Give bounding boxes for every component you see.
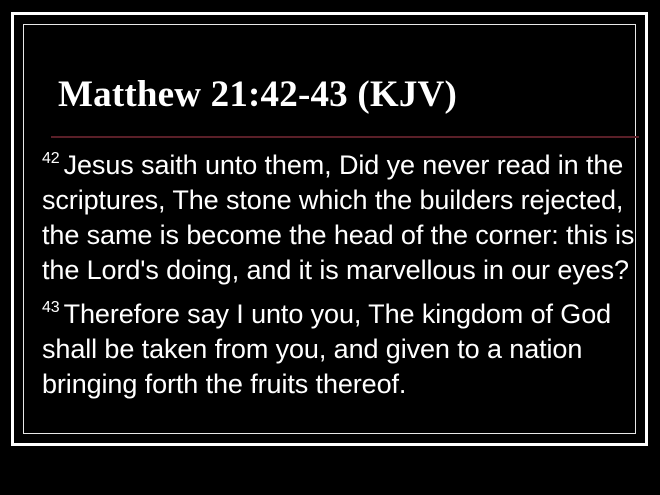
title-divider: [51, 136, 639, 138]
slide-outer-border: Matthew 21:42-43 (KJV) 42Jesus saith unt…: [11, 12, 648, 446]
slide-content: Matthew 21:42-43 (KJV) 42Jesus saith unt…: [14, 15, 645, 443]
page-title: Matthew 21:42-43 (KJV): [58, 73, 457, 117]
scripture-slide: Matthew 21:42-43 (KJV) 42Jesus saith unt…: [0, 0, 660, 495]
verse-paragraph: 42Jesus saith unto them, Did ye never re…: [42, 148, 642, 288]
verse-number: 42: [42, 150, 64, 167]
verse-text: Jesus saith unto them, Did ye never read…: [42, 150, 634, 285]
verse-text: Therefore say I unto you, The kingdom of…: [42, 299, 611, 399]
verse-number: 43: [42, 299, 64, 316]
verse-paragraph: 43Therefore say I unto you, The kingdom …: [42, 297, 642, 402]
scripture-body: 42Jesus saith unto them, Did ye never re…: [42, 148, 642, 402]
